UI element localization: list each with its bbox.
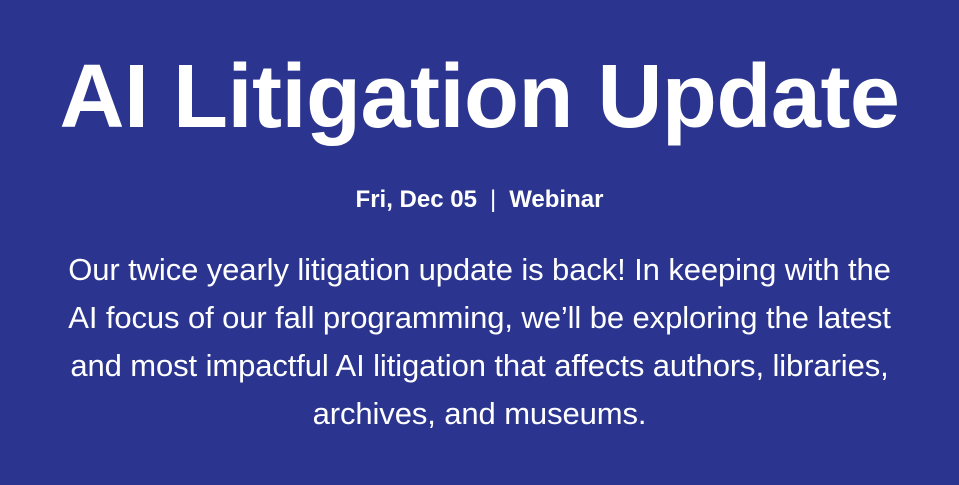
event-promo-card: AI Litigation Update Fri, Dec 05 | Webin… — [0, 0, 959, 485]
event-title: AI Litigation Update — [0, 52, 959, 142]
event-type-label: Webinar — [509, 186, 603, 215]
meta-separator: | — [477, 186, 509, 215]
event-description: Our twice yearly litigation update is ba… — [65, 246, 895, 438]
event-date: Fri, Dec 05 — [356, 186, 477, 215]
event-meta: Fri, Dec 05 | Webinar — [0, 186, 959, 215]
